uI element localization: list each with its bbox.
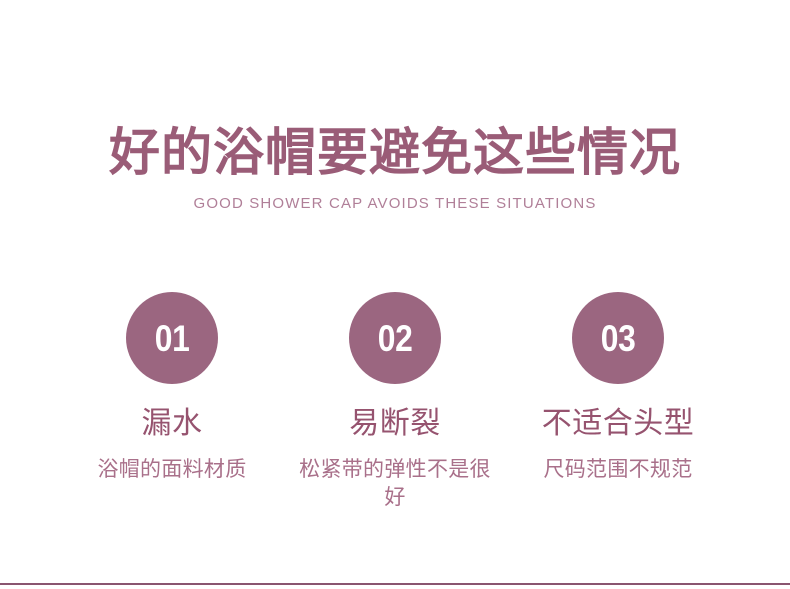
reason-card-list: 01 漏水 浴帽的面料材质 02 易断裂 松紧带的弹性不是很好 03 不适合头型… xyxy=(0,292,790,512)
reason-description: 尺码范围不规范 xyxy=(543,456,692,484)
reason-card: 02 易断裂 松紧带的弹性不是很好 xyxy=(284,292,507,512)
reason-card: 01 漏水 浴帽的面料材质 xyxy=(61,292,284,484)
step-number: 01 xyxy=(155,320,190,357)
page-subtitle: GOOD SHOWER CAP AVOIDS THESE SITUATIONS xyxy=(0,194,790,214)
step-badge-01: 01 xyxy=(126,292,218,384)
infographic-page: 好的浴帽要避免这些情况 GOOD SHOWER CAP AVOIDS THESE… xyxy=(0,0,790,589)
step-badge-02: 02 xyxy=(349,292,441,384)
reason-title: 易断裂 xyxy=(349,406,441,442)
header-block: 好的浴帽要避免这些情况 GOOD SHOWER CAP AVOIDS THESE… xyxy=(0,122,790,214)
reason-description: 松紧带的弹性不是很好 xyxy=(295,456,495,512)
step-number: 03 xyxy=(601,320,636,357)
page-title: 好的浴帽要避免这些情况 xyxy=(0,122,790,184)
step-badge-03: 03 xyxy=(572,292,664,384)
reason-title: 漏水 xyxy=(142,406,203,442)
reason-description: 浴帽的面料材质 xyxy=(97,456,246,484)
reason-title: 不适合头型 xyxy=(542,406,695,442)
reason-card: 03 不适合头型 尺码范围不规范 xyxy=(507,292,730,484)
step-number: 02 xyxy=(378,320,413,357)
bottom-divider xyxy=(0,583,790,585)
